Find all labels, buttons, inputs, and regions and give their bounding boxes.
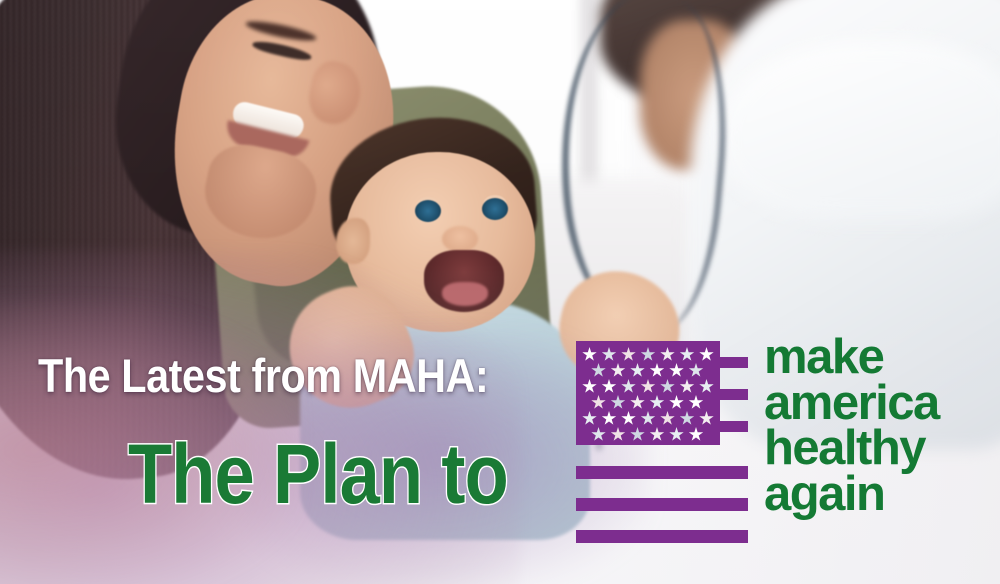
maha-logo-line-america: america [764,381,939,427]
flag-star [602,379,617,394]
flag-star [611,363,626,378]
flag-star [680,347,695,362]
flag-star [630,395,645,410]
flag-star [611,427,626,442]
flag-stripe-stub [720,357,748,368]
maha-hero-banner: The Latest from MAHA: The Plan to make a… [0,0,1000,584]
flag-star [669,363,684,378]
flag-star [650,363,665,378]
flag-star [669,395,684,410]
flag-stripe [576,530,748,543]
flag-star [582,379,597,394]
flag-star [689,363,704,378]
flag-star [660,347,675,362]
flag-star [611,395,626,410]
flag-star [591,363,606,378]
maha-flag-icon [576,341,748,545]
flag-star [660,379,675,394]
flag-star [650,395,665,410]
flag-star [582,411,597,426]
maha-logo-line-again: again [764,472,939,518]
flag-star [582,347,597,362]
flag-star [680,411,695,426]
flag-star [591,395,606,410]
flag-star [680,379,695,394]
flag-star [669,427,684,442]
flag-stripe [576,498,748,511]
maha-logo-wordmark: make america healthy again [764,335,939,517]
flag-star [621,411,636,426]
headline-title: The Plan to [128,432,508,516]
flag-stripe-stub [720,421,748,432]
flag-star [660,411,675,426]
flag-star [591,427,606,442]
headline-kicker: The Latest from MAHA: [38,352,488,399]
flag-star-field [576,341,720,445]
flag-stripe-stub [720,389,748,400]
flag-star [699,347,714,362]
maha-logo: make america healthy again [576,341,976,551]
flag-star [689,395,704,410]
flag-star [602,411,617,426]
flag-star [630,427,645,442]
flag-star [641,347,656,362]
flag-star [699,411,714,426]
flag-star [602,347,617,362]
maha-logo-line-healthy: healthy [764,426,939,472]
flag-star [699,379,714,394]
flag-stripe [576,466,748,479]
flag-star [621,379,636,394]
flag-star [641,411,656,426]
flag-star [621,347,636,362]
flag-star [689,427,704,442]
maha-logo-line-make: make [764,335,939,381]
flag-star [641,379,656,394]
flag-star [650,427,665,442]
flag-star [630,363,645,378]
